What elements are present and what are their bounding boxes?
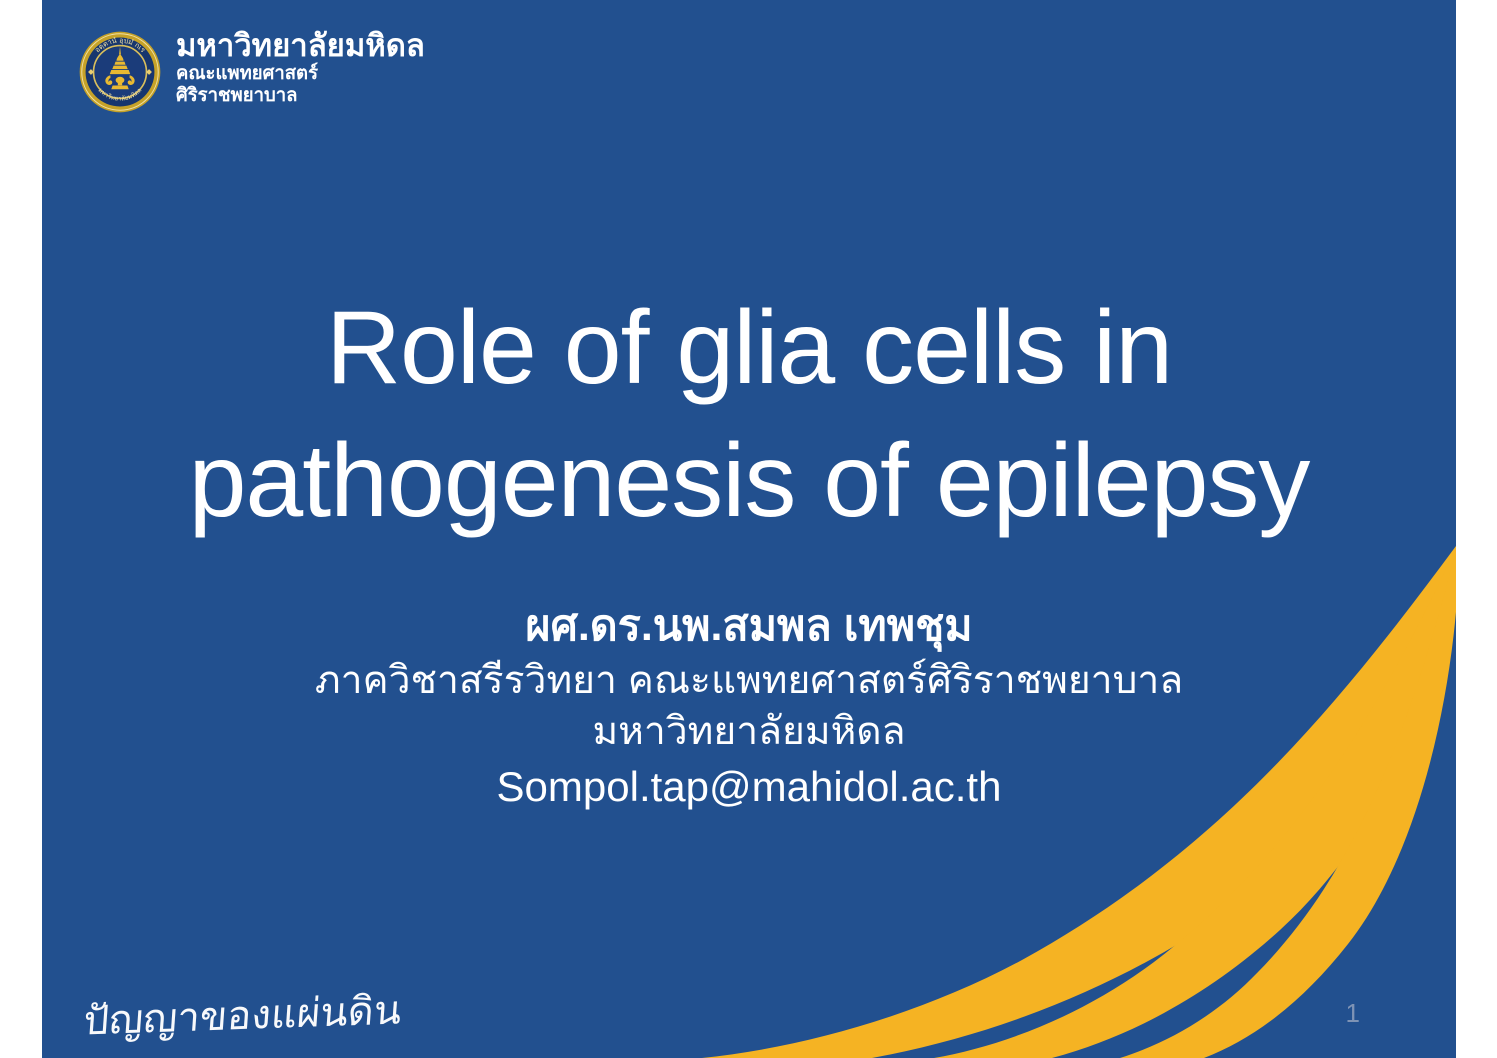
mahidol-logo-lockup: อตฺตานํ อุปมํ กเร มหาวิทยาลัยมหิดล (78, 28, 425, 114)
wordmark-faculty-line-1: คณะแพทยศาสตร์ (176, 62, 425, 83)
title-block: Role of glia cells in pathogenesis of ep… (42, 282, 1456, 548)
presenter-name: ผศ.ดร.นพ.สมพล เทพชุม (42, 600, 1456, 652)
wordmark-faculty-line-2: ศิริราชพยาบาล (176, 84, 425, 105)
slide-title: Role of glia cells in pathogenesis of ep… (42, 282, 1456, 548)
presenter-email: Sompol.tap@mahidol.ac.th (42, 760, 1456, 815)
slide-canvas: อตฺตานํ อุปมํ กเร มหาวิทยาลัยมหิดล (0, 0, 1497, 1058)
mahidol-university-seal-icon: อตฺตานํ อุปมํ กเร มหาวิทยาลัยมหิดล (78, 30, 162, 114)
affiliation-line-2: มหาวิทยาลัยมหิดล (42, 707, 1456, 758)
presentation-slide: อตฺตานํ อุปมํ กเร มหาวิทยาลัยมหิดล (42, 0, 1456, 1058)
mahidol-wordmark: มหาวิทยาลัยมหิดล คณะแพทยศาสตร์ ศิริราชพย… (176, 28, 425, 105)
wordmark-university-name: มหาวิทยาลัยมหิดล (176, 30, 425, 62)
subtitle-block: ผศ.ดร.นพ.สมพล เทพชุม ภาควิชาสรีรวิทยา คณ… (42, 600, 1456, 814)
handwritten-motto-mark: ปัญญาของแผ่นดิน (82, 990, 403, 1041)
page-number: 1 (1346, 1000, 1360, 1026)
affiliation-line-1: ภาควิชาสรีรวิทยา คณะแพทยศาสตร์ศิริราชพยา… (42, 656, 1456, 707)
